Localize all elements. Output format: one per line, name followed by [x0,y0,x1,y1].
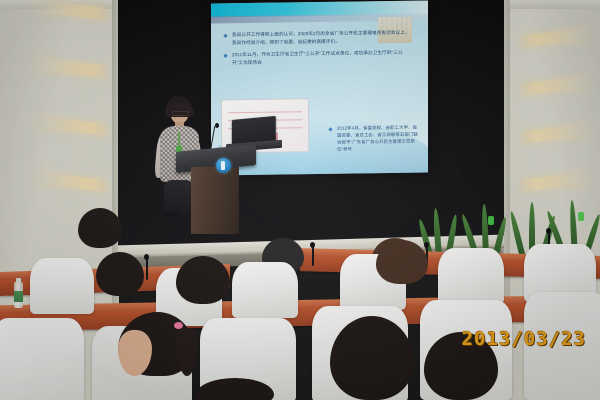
audience-head [176,256,230,304]
plant-leaf [508,211,525,259]
microphone-icon [215,123,219,128]
auditorium-seat [232,262,298,318]
auditorium-seat [0,318,84,400]
podium-body [191,167,239,234]
auditorium-seat [30,258,94,314]
organization-emblem-icon [216,158,231,173]
slide-bullet-1: 我局公开工作得到上级的认可，2009年2月的全省厂务公开民主管理电视电话会议上，… [223,29,413,47]
auditorium-seat [438,248,504,304]
camera-date-stamp: 2013/03/23 [462,328,586,350]
slide-bullet-3: 2012年4月，省委党校、省职工大学、省国资委、省总工会、省工商联等五部门联合授… [328,124,418,153]
conference-hall-photo: 我局公开工作得到上级的认可，2009年2月的全省厂务公开民主管理电视电话会议上，… [0,0,600,400]
slide-header-band [211,0,428,17]
desk-microphone [312,246,314,266]
slide-callout-box: 2012年4月，省委党校、省职工大学、省国资委、省总工会、省工商联等五部门联合授… [328,124,418,158]
audience-head [330,316,414,400]
glasses-icon [172,111,189,116]
audience-head [376,240,428,284]
water-bottle [14,282,23,308]
audience-head [78,208,122,248]
audience-head [96,252,144,296]
lanyard-cord [178,132,180,147]
desk-microphone [146,258,148,280]
podium [176,148,256,234]
plant-marker [578,212,584,221]
slide-bullet-2: 2011年11月，作为卫生厅省卫生厅"三公开"工作试点单位，成功承办卫生厅的"三… [223,49,413,67]
plant-marker [488,216,494,225]
slide-bullet-list: 我局公开工作得到上级的认可，2009年2月的全省厂务公开民主管理电视电话会议上，… [223,29,413,72]
